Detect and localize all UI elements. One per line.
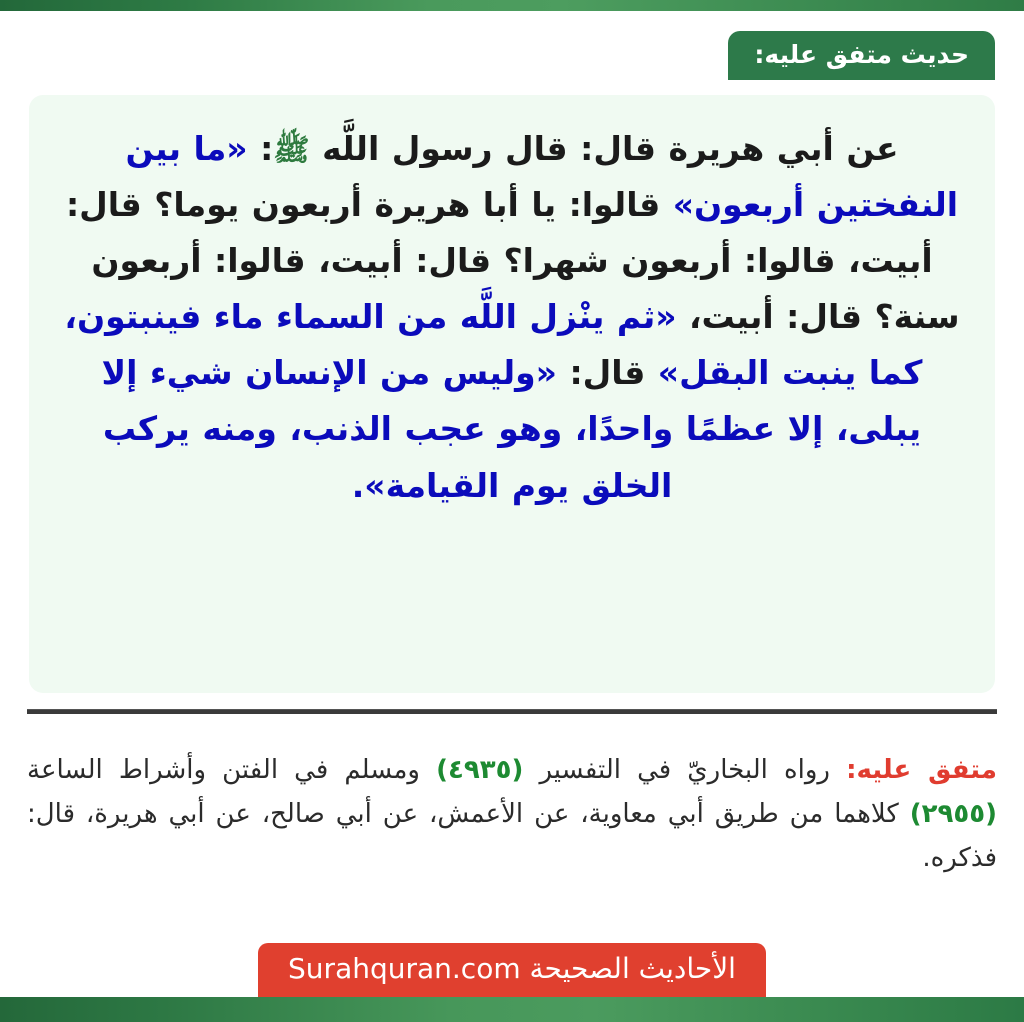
hadith-narration-segment-6: قال: — [557, 353, 658, 392]
footer-site-name: Surahquran.com — [288, 952, 521, 985]
section-divider — [27, 709, 997, 714]
hadith-narration-segment-2: : — [248, 129, 274, 168]
hadith-text: عن أبي هريرة قال: قال رسول اللَّه ﷺ: «ما… — [59, 121, 965, 514]
site-footer-badge[interactable]: الأحاديث الصحيحة Surahquran.com — [258, 943, 766, 997]
attribution-part-2: ومسلم في الفتن وأشراط الساعة — [27, 755, 436, 785]
hadith-card: عن أبي هريرة قال: قال رسول اللَّه ﷺ: «ما… — [29, 95, 995, 693]
attribution-part-3: كلاهما من طريق أبي معاوية، عن الأعمش، عن… — [27, 799, 997, 873]
footer-tagline: الأحاديث الصحيحة — [530, 952, 736, 985]
reference-number-muslim: (٢٩٥٥) — [910, 799, 997, 829]
footer-badge-row: الأحاديث الصحيحة Surahquran.com — [0, 943, 1024, 997]
top-accent-bar — [0, 0, 1024, 11]
reference-number-bukhari: (٤٩٣٥) — [436, 755, 523, 785]
salawat-icon: ﷺ — [273, 133, 309, 168]
bottom-accent-bar — [0, 997, 1024, 1022]
attribution-label: متفق عليه: — [846, 755, 997, 785]
attribution-block: متفق عليه: رواه البخاريّ في التفسير (٤٩٣… — [27, 748, 997, 881]
hadith-narration-segment-0: عن أبي هريرة قال: قال رسول اللَّه — [310, 129, 899, 168]
header-badge-row: حديث متفق عليه: — [0, 31, 1024, 95]
attribution-part-1: رواه البخاريّ في التفسير — [523, 755, 846, 785]
hadith-grade-badge: حديث متفق عليه: — [728, 31, 995, 80]
